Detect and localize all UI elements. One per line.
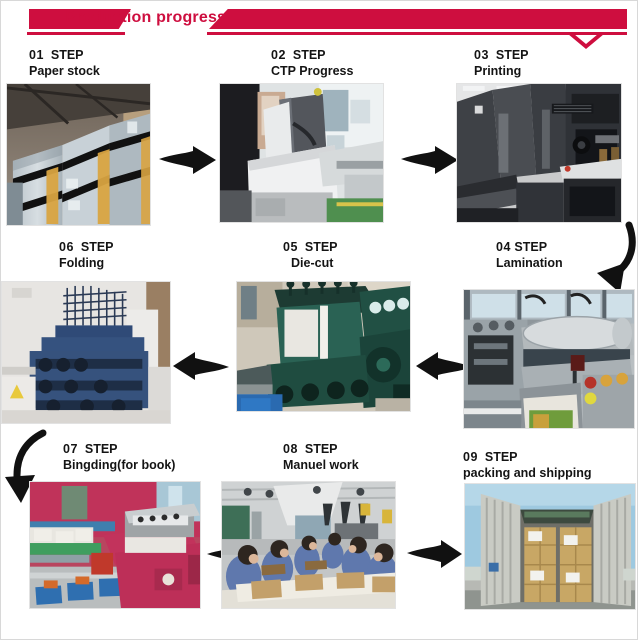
photo-step-02-ctp	[219, 83, 384, 223]
caption-step-09: 09 STEP packing and shipping	[463, 449, 591, 481]
step-03-name: Printing	[474, 63, 529, 79]
arrow-step02-to-step03	[401, 145, 459, 175]
step-09-word: STEP	[485, 450, 518, 464]
caption-step-01: 01 STEP Paper stock	[29, 47, 100, 79]
banner-right-underline	[207, 32, 627, 35]
step-07-number: 07	[63, 442, 78, 456]
caption-step-06: 06 STEP Folding	[59, 239, 114, 271]
step-04-name: Lamination	[496, 255, 563, 271]
step-08-word: STEP	[305, 442, 338, 456]
step-08-name: Manuel work	[283, 457, 359, 473]
step-01-name: Paper stock	[29, 63, 100, 79]
step-09-number: 09	[463, 450, 478, 464]
step-07-name: Bingding(for book)	[63, 457, 175, 473]
step-01-number: 01	[29, 48, 44, 62]
photo-step-03-printing	[456, 83, 622, 223]
step-02-number: 02	[271, 48, 286, 62]
photo-step-05-die-cut	[236, 281, 411, 412]
step-05-name: Die-cut	[283, 255, 338, 271]
photo-step-01-paper-stock	[6, 83, 151, 226]
step-09-name: packing and shipping	[463, 465, 591, 481]
step-04-number: 04	[496, 240, 511, 254]
photo-step-04-lamination	[463, 289, 635, 429]
caption-step-08: 08 STEP Manuel work	[283, 441, 359, 473]
step-06-word: STEP	[81, 240, 114, 254]
caption-step-07: 07 STEP Bingding(for book)	[63, 441, 175, 473]
step-03-number: 03	[474, 48, 489, 62]
step-05-number: 05	[283, 240, 298, 254]
photo-step-06-folding	[1, 281, 171, 424]
arrow-step05-to-step06	[173, 351, 229, 381]
caption-step-03: 03 STEP Printing	[474, 47, 529, 79]
arrow-step03-to-step04	[589, 223, 638, 295]
header-banner: Production progress	[1, 1, 638, 47]
chevron-down-icon	[568, 34, 604, 50]
banner-right-bar-shape	[209, 9, 627, 29]
production-progress-infographic: Production progress 01 STEP Paper stock …	[0, 0, 638, 640]
step-04-word: STEP	[514, 240, 547, 254]
step-02-word: STEP	[293, 48, 326, 62]
photo-step-08-manual-work	[221, 481, 396, 609]
step-05-word: STEP	[305, 240, 338, 254]
step-03-word: STEP	[496, 48, 529, 62]
banner-left-underline	[27, 32, 125, 35]
step-02-name: CTP Progress	[271, 63, 353, 79]
step-07-word: STEP	[85, 442, 118, 456]
step-01-word: STEP	[51, 48, 84, 62]
page-title: Production progress	[65, 9, 226, 27]
arrow-step08-to-step09	[407, 539, 463, 569]
caption-step-02: 02 STEP CTP Progress	[271, 47, 353, 79]
step-08-number: 08	[283, 442, 298, 456]
caption-step-05: 05 STEP Die-cut	[283, 239, 338, 271]
step-06-number: 06	[59, 240, 74, 254]
caption-step-04: 04 STEP Lamination	[496, 239, 563, 271]
arrow-step01-to-step02	[159, 145, 217, 175]
photo-step-09-packing-shipping	[464, 483, 636, 610]
step-06-name: Folding	[59, 255, 114, 271]
photo-step-07-binding	[29, 481, 201, 609]
